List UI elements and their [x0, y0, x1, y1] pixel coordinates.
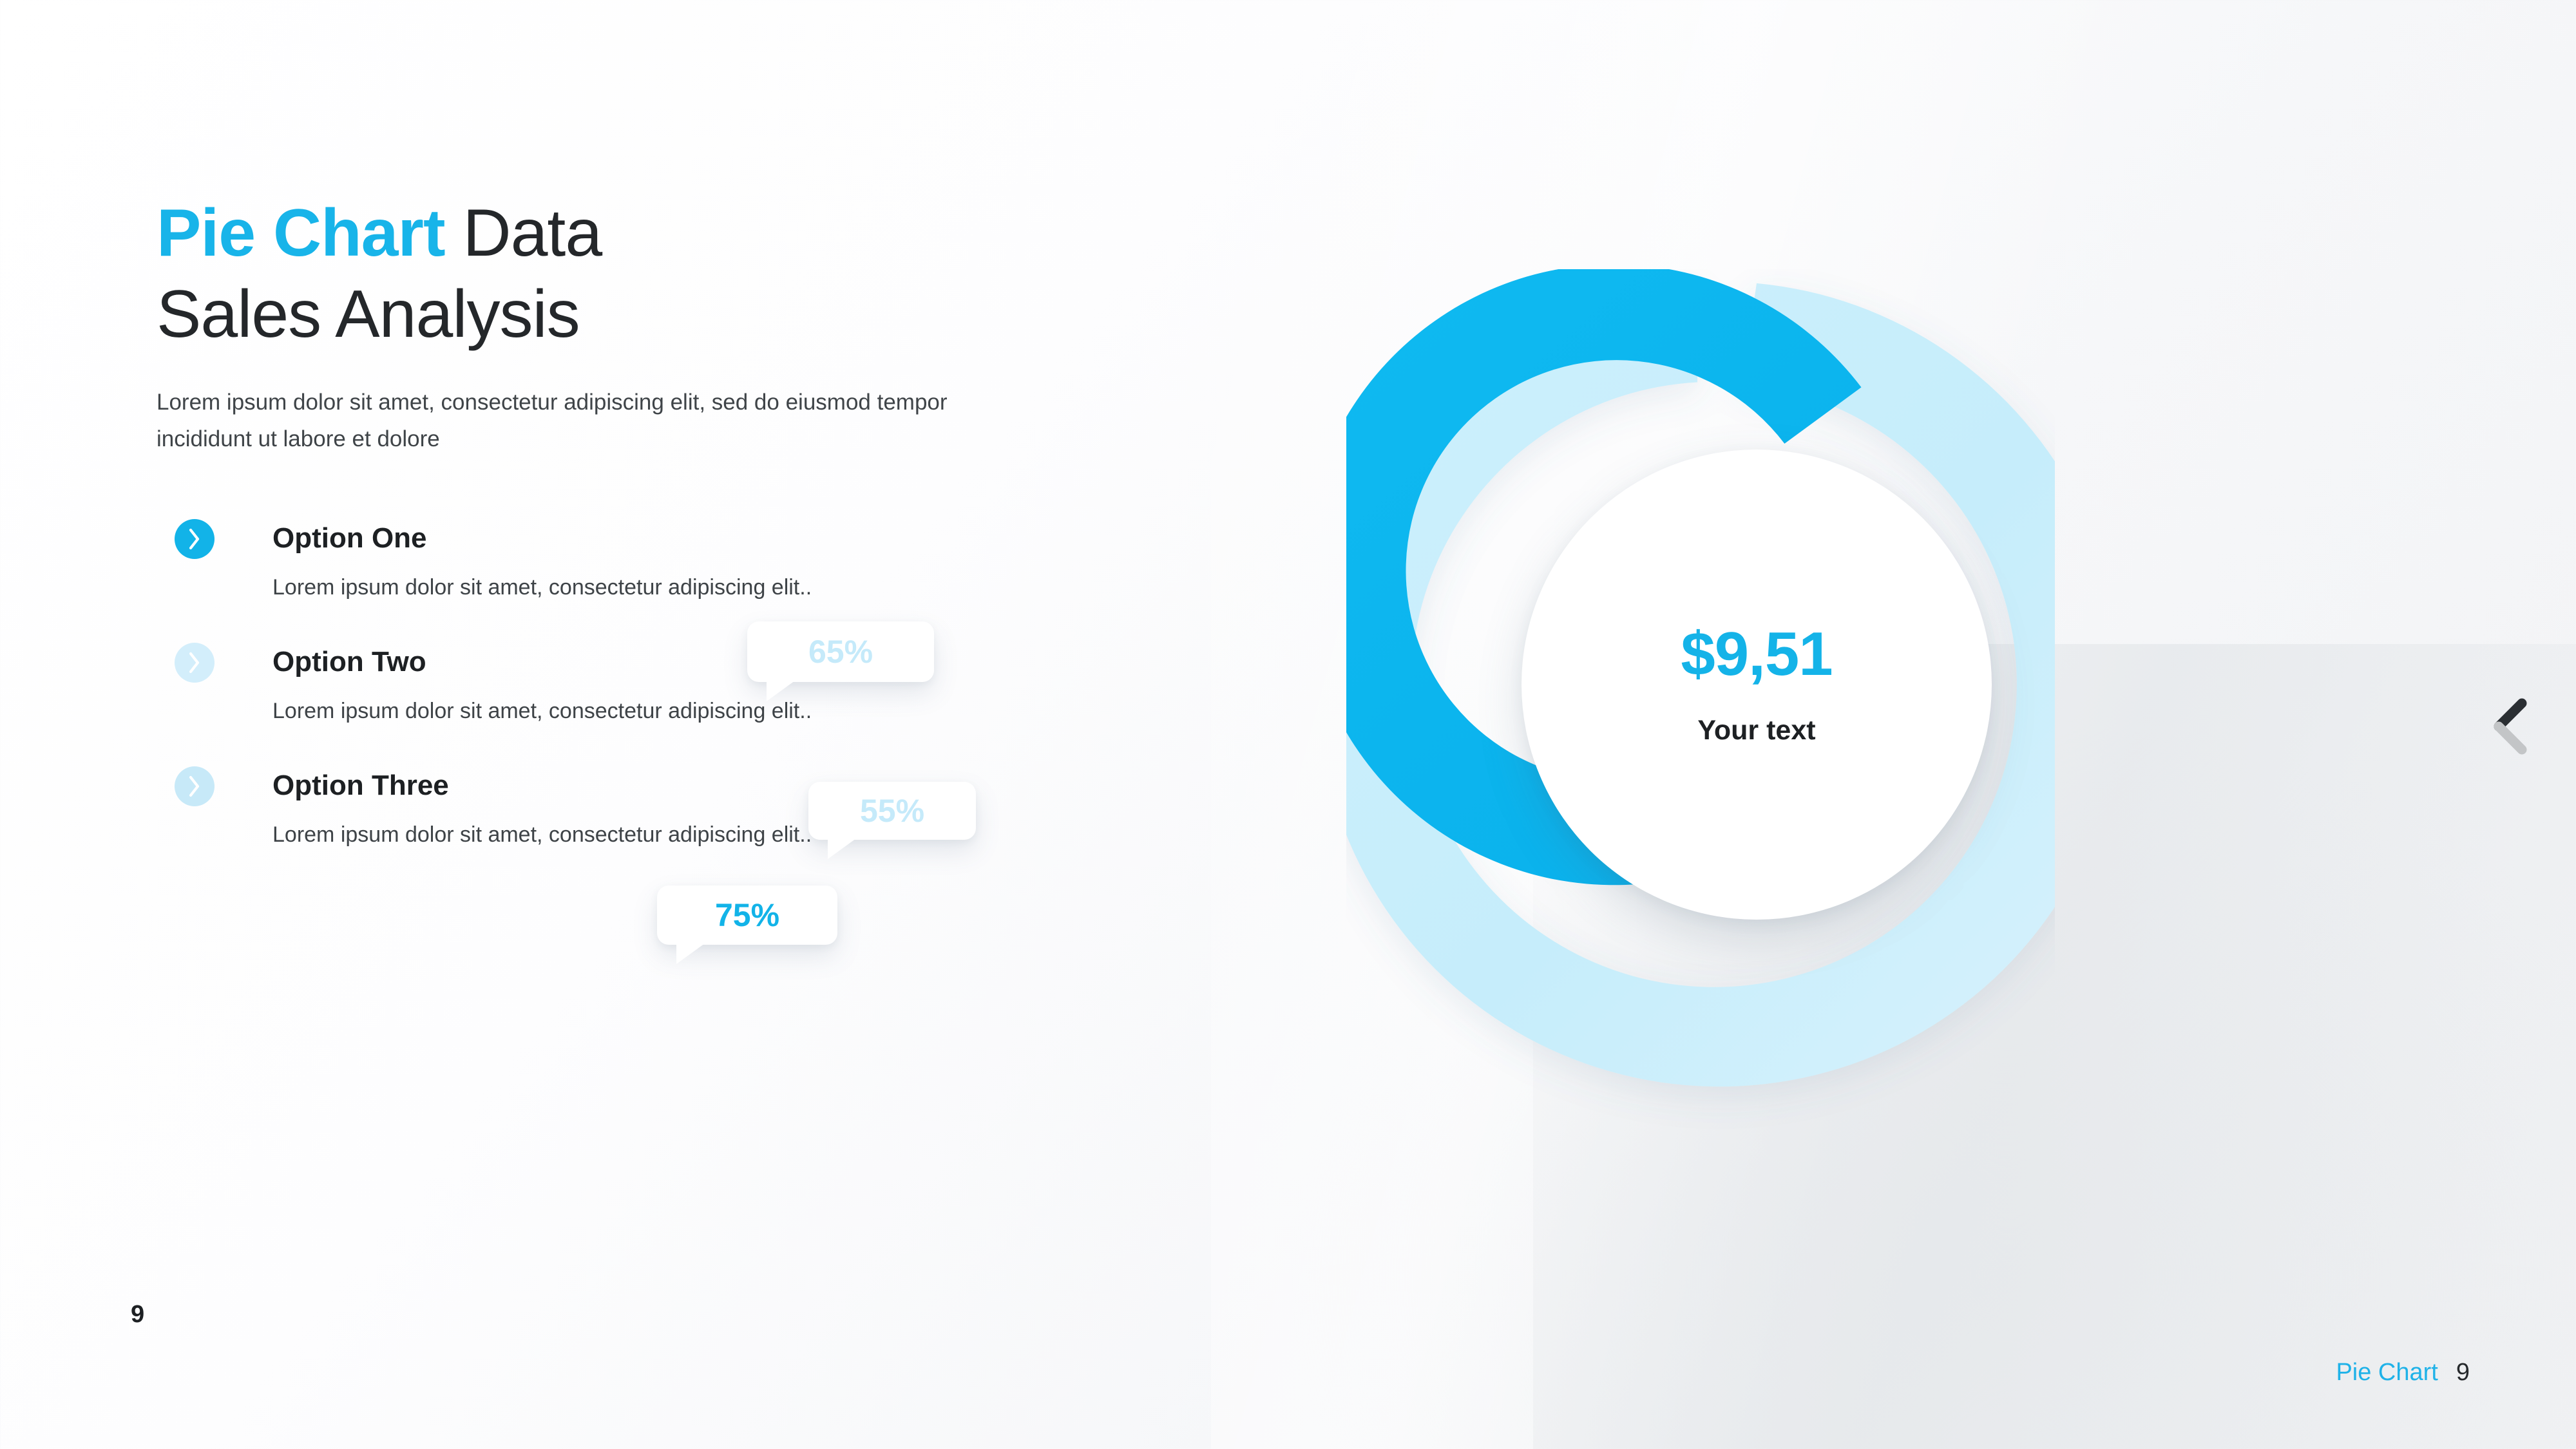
slide-left-column: Pie Chart Data Sales Analysis Lorem ipsu…: [157, 193, 1071, 875]
chevron-right-icon-two[interactable]: [175, 643, 215, 683]
callout-55[interactable]: 55%: [808, 782, 976, 840]
footer: Pie Chart 9: [2336, 1359, 2470, 1387]
footer-page-number: 9: [2456, 1359, 2470, 1387]
chevron-left-icon[interactable]: [2477, 689, 2554, 766]
donut-chart: $9,51 Your text: [1346, 269, 2055, 1158]
donut-center-hub: $9,51 Your text: [1522, 450, 1992, 920]
page-subtitle: Sales Analysis: [157, 274, 1071, 355]
option-one-description: Lorem ipsum dolor sit amet, consectetur …: [272, 574, 1071, 601]
list-item-option-two[interactable]: Option Two Lorem ipsum dolor sit amet, c…: [157, 643, 1071, 751]
center-label: Your text: [1697, 715, 1815, 746]
slide-number-left: 9: [131, 1301, 144, 1329]
footer-section-label: Pie Chart: [2336, 1359, 2438, 1387]
option-one-label: Option One: [272, 519, 1071, 553]
center-value: $9,51: [1681, 623, 1832, 685]
page-title-rest: Data: [445, 196, 602, 270]
previous-slide-button[interactable]: [2477, 689, 2554, 766]
page-title: Pie Chart Data: [157, 193, 1071, 274]
option-two-label: Option Two: [272, 643, 1071, 676]
option-two-description: Lorem ipsum dolor sit amet, consectetur …: [272, 698, 1071, 724]
chevron-right-icon-three[interactable]: [175, 766, 215, 806]
chevron-right-icon-one[interactable]: [175, 519, 215, 559]
callout-65[interactable]: 65%: [747, 621, 934, 682]
callout-75[interactable]: 75%: [657, 885, 837, 945]
intro-paragraph: Lorem ipsum dolor sit amet, consectetur …: [157, 384, 987, 457]
list-item-option-one[interactable]: Option One Lorem ipsum dolor sit amet, c…: [157, 519, 1071, 627]
page-title-accent: Pie Chart: [157, 196, 445, 270]
